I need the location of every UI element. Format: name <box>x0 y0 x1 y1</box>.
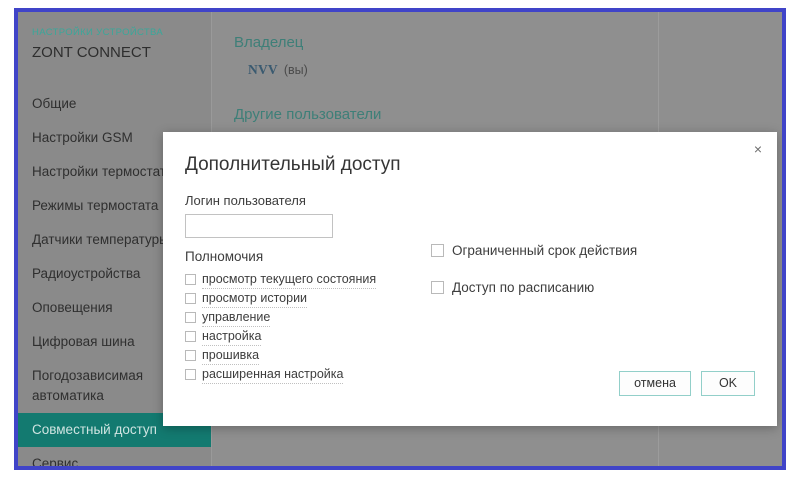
ok-button[interactable]: OK <box>701 371 755 396</box>
additional-access-dialog: × Дополнительный доступ Логин пользовате… <box>163 132 777 426</box>
permission-label: расширенная настройка <box>202 366 343 384</box>
sidebar-item-label: Настройки термостата <box>32 164 173 179</box>
sidebar-header: НАСТРОЙКИ УСТРОЙСТВА ZONT CONNECT <box>18 26 211 65</box>
options-column: Ограниченный срок действия Доступ по рас… <box>431 238 755 315</box>
checkbox-icon[interactable] <box>185 274 196 285</box>
sidebar-item-obshchie[interactable]: Общие <box>18 87 211 121</box>
sidebar-item-label: Общие <box>32 96 76 111</box>
sidebar-kicker: НАСТРОЙКИ УСТРОЙСТВА <box>32 26 197 40</box>
app-window-frame: НАСТРОЙКИ УСТРОЙСТВА ZONT CONNECT Общие … <box>14 8 786 470</box>
login-input[interactable] <box>185 214 333 238</box>
sidebar-item-label: Сервис <box>32 456 78 470</box>
permission-row-view-current-state[interactable]: просмотр текущего состояния <box>185 271 431 289</box>
owner-you-marker: (вы) <box>284 63 308 77</box>
option-row-scheduled-access[interactable]: Доступ по расписанию <box>431 278 755 297</box>
permission-label: просмотр текущего состояния <box>202 271 376 289</box>
permission-row-advanced-configure[interactable]: расширенная настройка <box>185 366 431 384</box>
checkbox-icon[interactable] <box>185 369 196 380</box>
sidebar-item-label: Режимы термостата <box>32 198 158 213</box>
permission-row-control[interactable]: управление <box>185 309 431 327</box>
permission-row-view-history[interactable]: просмотр истории <box>185 290 431 308</box>
permission-label: настройка <box>202 328 261 346</box>
sidebar-item-service[interactable]: Сервис <box>18 447 211 470</box>
sidebar-item-label: Совместный доступ <box>32 422 157 437</box>
permission-row-configure[interactable]: настройка <box>185 328 431 346</box>
sidebar-device-title: ZONT CONNECT <box>32 41 197 65</box>
close-icon[interactable]: × <box>749 140 767 158</box>
permissions-column: Полномочия просмотр текущего состояния п… <box>185 238 431 385</box>
sidebar-item-label: Погодозависимая автоматика <box>32 368 143 403</box>
permission-label: управление <box>202 309 270 327</box>
other-users-section-title: Другие пользователи <box>234 104 782 126</box>
permission-label: просмотр истории <box>202 290 307 308</box>
dialog-footer: отмена OK <box>619 371 755 396</box>
option-label: Ограниченный срок действия <box>452 241 637 260</box>
sidebar-item-label: Настройки GSM <box>32 130 133 145</box>
checkbox-icon[interactable] <box>431 244 444 257</box>
login-field-label: Логин пользователя <box>185 192 755 210</box>
checkbox-icon[interactable] <box>431 281 444 294</box>
permission-row-firmware[interactable]: прошивка <box>185 347 431 365</box>
sidebar-item-label: Оповещения <box>32 300 113 315</box>
dialog-title: Дополнительный доступ <box>163 132 777 178</box>
checkbox-icon[interactable] <box>185 293 196 304</box>
checkbox-icon[interactable] <box>185 350 196 361</box>
dialog-body: Логин пользователя Полномочия просмотр т… <box>163 178 777 410</box>
permissions-group-label: Полномочия <box>185 247 431 267</box>
owner-name[interactable]: NVV <box>248 62 278 77</box>
owner-section-title: Владелец <box>234 32 782 54</box>
sidebar-item-label: Радиоустройства <box>32 266 140 281</box>
sidebar-item-label: Цифровая шина <box>32 334 135 349</box>
checkbox-icon[interactable] <box>185 312 196 323</box>
option-row-limited-validity[interactable]: Ограниченный срок действия <box>431 241 755 260</box>
cancel-button[interactable]: отмена <box>619 371 691 396</box>
option-label: Доступ по расписанию <box>452 278 594 297</box>
permission-label: прошивка <box>202 347 259 365</box>
owner-row: NVV(вы) <box>234 60 782 80</box>
dialog-columns: Полномочия просмотр текущего состояния п… <box>185 238 755 385</box>
checkbox-icon[interactable] <box>185 331 196 342</box>
sidebar-item-label: Датчики температуры <box>32 232 169 247</box>
